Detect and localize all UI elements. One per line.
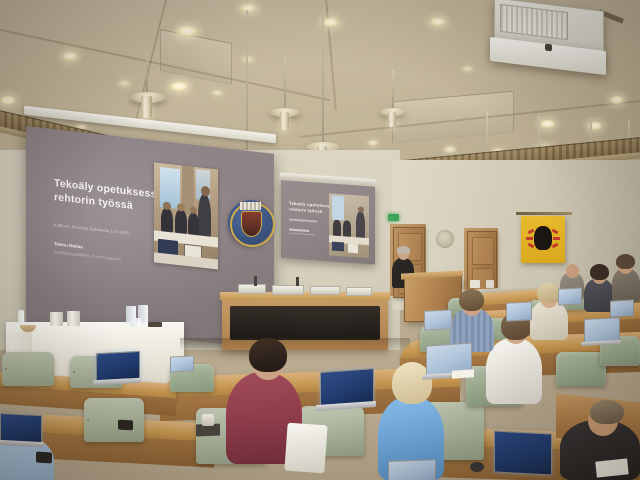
attendee-far-right-1-hair	[590, 264, 609, 280]
attendee-plaid-hair	[459, 289, 484, 311]
microphone-icon	[254, 276, 257, 286]
pendant-rod	[322, 8, 324, 148]
water-bottle	[18, 310, 24, 324]
photo-tablet	[348, 244, 358, 254]
attendee-far-right-2-hair	[616, 254, 635, 269]
attendee-bottom-right-hair	[590, 400, 624, 424]
attendee-cream-hair	[537, 283, 560, 303]
chair[interactable]	[2, 352, 54, 386]
pendant-rod	[284, 56, 286, 114]
laptop-screen[interactable]	[610, 299, 634, 317]
banner-ray	[552, 243, 559, 248]
laptop-screen[interactable]	[388, 459, 436, 480]
pendant-rod	[246, 10, 248, 170]
recessed-downlight	[62, 52, 78, 61]
pendant-lamp	[388, 112, 396, 127]
pendant-lamp	[141, 96, 152, 118]
mouse-icon[interactable]	[470, 462, 484, 472]
glass-stack	[130, 318, 141, 327]
secondary-slide-subtitle	[289, 219, 317, 222]
photo-student-head	[190, 206, 197, 214]
recessed-downlight	[240, 4, 257, 13]
banner-charge-icon	[534, 226, 552, 250]
recessed-downlight	[170, 82, 188, 91]
exit-sign-icon	[388, 214, 399, 221]
av-equipment-unit	[272, 285, 304, 295]
photo-teacher-head	[201, 186, 210, 197]
photo-student-head	[163, 201, 171, 210]
photo-laptop	[332, 242, 344, 252]
cup-stack	[67, 311, 80, 326]
laptop-screen[interactable]	[494, 430, 552, 475]
photo-student-head	[177, 203, 185, 212]
recessed-downlight	[430, 18, 446, 26]
av-equipment-unit	[310, 286, 340, 295]
recessed-downlight	[462, 66, 473, 72]
recessed-downlight	[118, 80, 131, 87]
recessed-downlight	[212, 90, 223, 96]
tray	[148, 322, 162, 327]
secondary-slide-title-line2: rehtorin työssä	[289, 207, 322, 214]
recessed-downlight	[444, 146, 456, 153]
recessed-downlight	[610, 96, 624, 104]
lecture-hall-photo: Tekoäly opetuksessa & rehtorin työssä Ku…	[0, 0, 640, 480]
door-panel	[472, 237, 494, 265]
secondary-slide-photograph	[329, 193, 369, 258]
coffee-cup	[202, 414, 214, 426]
photo-teacher-head	[358, 206, 364, 212]
recessed-downlight	[242, 56, 254, 63]
equipment-item	[486, 280, 494, 288]
crest-shield	[241, 211, 262, 237]
floor-shadow	[180, 338, 410, 350]
laptop-screen[interactable]	[558, 287, 582, 305]
attendee-rear-right-head	[566, 264, 579, 278]
av-console-front-panel	[230, 306, 380, 340]
crest-crown	[240, 202, 261, 210]
photo-student	[333, 220, 341, 237]
attendee-maroon-cloth	[284, 423, 327, 474]
banner-ray	[552, 229, 559, 235]
hvac-sensor-icon	[545, 44, 552, 52]
cup-stack	[50, 312, 63, 326]
recessed-downlight	[0, 96, 16, 105]
photo-student	[343, 220, 351, 237]
phone-icon[interactable]	[118, 420, 133, 431]
laptop-screen[interactable]	[96, 354, 98, 356]
av-equipment-unit	[238, 284, 266, 294]
chair[interactable]	[556, 352, 606, 386]
pendant-lamp	[280, 112, 289, 130]
secondary-slide-byline	[289, 233, 315, 236]
heraldic-banner	[521, 216, 565, 263]
secondary-projection-screen: Tekoäly opetuksessa & rehtorin työssä	[281, 180, 375, 265]
av-equipment-unit	[346, 287, 372, 296]
microphone-icon	[296, 277, 299, 286]
banner-ray	[553, 237, 560, 240]
recessed-downlight	[322, 18, 339, 27]
photo-window	[332, 196, 344, 221]
recessed-downlight	[540, 120, 555, 128]
equipment-item	[470, 280, 480, 288]
recessed-downlight	[368, 140, 378, 146]
wall-crest-emblem	[228, 200, 273, 245]
slide-photograph	[154, 162, 218, 269]
paper-sheet	[452, 369, 474, 379]
attendee-white	[486, 338, 542, 404]
recessed-downlight	[176, 26, 198, 37]
chair[interactable]	[84, 398, 144, 442]
laptop-screen[interactable]	[424, 309, 452, 330]
laptop-screen[interactable]	[506, 301, 532, 321]
round-wall-relief	[436, 230, 454, 248]
presenter-hair	[397, 246, 410, 254]
paper-sheet	[595, 458, 628, 477]
banner-rod	[516, 212, 572, 215]
laptop-screen[interactable]	[170, 355, 194, 372]
phone-icon[interactable]	[36, 452, 52, 464]
banner-ray	[526, 237, 533, 240]
secondary-slide-byline	[289, 229, 309, 232]
